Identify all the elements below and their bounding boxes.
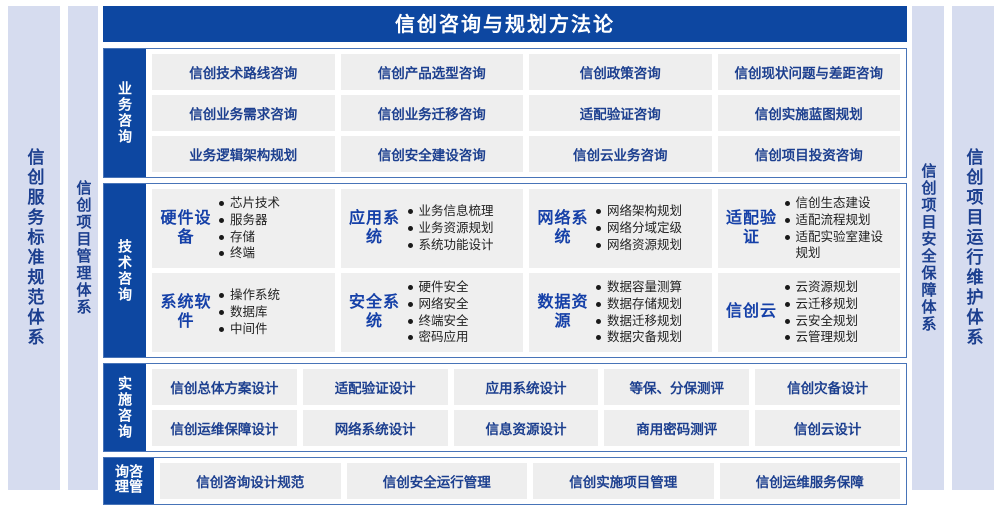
chip-item[interactable]: 信创总体方案设计: [152, 369, 297, 405]
tile-row: 硬件设备 芯片技术 服务器 存储 终端 应用系统 业务信息梳理 业务资源规划: [152, 189, 900, 268]
tile-list-item: 适配实验室建设规划: [784, 229, 895, 263]
tile-list: 云资源规划 云迁移规划 云安全规划 云管理规划: [780, 279, 895, 346]
tile-list-item: 网络分域定级: [595, 220, 706, 237]
chip-item[interactable]: 应用系统设计: [454, 369, 599, 405]
chip-item[interactable]: 网络系统设计: [303, 410, 448, 446]
chip-item[interactable]: 信创云设计: [755, 410, 900, 446]
chip-item[interactable]: 适配验证咨询: [529, 95, 712, 131]
tile-title: 系统软件: [158, 294, 214, 332]
tile-list-item: 业务信息梳理: [407, 203, 518, 220]
chip-item[interactable]: 商用密码测评: [604, 410, 749, 446]
band-label-technical-consulting: 技术咨询: [104, 184, 146, 357]
tile-system-software[interactable]: 系统软件 操作系统 数据库 中间件: [152, 273, 335, 352]
tile-title: 安全系统: [347, 294, 403, 332]
tile-list-item: 数据迁移规划: [595, 313, 706, 330]
chip-item[interactable]: 信创实施蓝图规划: [718, 95, 901, 131]
pillar-project-operation-system: 信创项目运行维护体系: [952, 6, 994, 490]
band-label-text: 技术咨询: [118, 239, 132, 303]
tile-list-item: 中间件: [218, 321, 329, 338]
chip-item[interactable]: 信创灾备设计: [755, 369, 900, 405]
tile-list-item: 信创生态建设: [784, 195, 895, 212]
chip-item[interactable]: 信创安全运行管理: [347, 463, 528, 499]
chip-item[interactable]: 信创技术路线咨询: [152, 54, 335, 90]
pillar-service-standard-system: 信创服务标准规范体系: [8, 6, 60, 490]
chip-item[interactable]: 信创现状问题与差距咨询: [718, 54, 901, 90]
tile-title: 信创云: [724, 303, 780, 322]
tile-list-item: 网络架构规划: [595, 203, 706, 220]
tile-list-item: 业务资源规划: [407, 220, 518, 237]
band-body-consulting-management: 信创咨询设计规范 信创安全运行管理 信创实施项目管理 信创运维服务保障: [154, 458, 906, 504]
band-technical-consulting: 技术咨询 硬件设备 芯片技术 服务器 存储 终端 应用系统: [103, 183, 907, 358]
center-column: 信创咨询与规划方法论 业务咨询 信创技术路线咨询 信创产品选型咨询 信创政策咨询…: [103, 6, 907, 490]
chip-item[interactable]: 等保、分保测评: [604, 369, 749, 405]
tile-network-system[interactable]: 网络系统 网络架构规划 网络分域定级 网络资源规划: [529, 189, 712, 268]
tile-list: 操作系统 数据库 中间件: [214, 287, 329, 337]
pillar-label: 信创项目管理体系: [76, 180, 91, 316]
tile-data-resource[interactable]: 数据资源 数据容量测算 数据存储规划 数据迁移规划 数据灾备规划: [529, 273, 712, 352]
tile-list-item: 网络资源规划: [595, 237, 706, 254]
band-label-business-consulting: 业务咨询: [104, 49, 146, 177]
chip-item[interactable]: 信创政策咨询: [529, 54, 712, 90]
chip-item[interactable]: 信创实施项目管理: [533, 463, 714, 499]
chip-item[interactable]: 信创咨询设计规范: [160, 463, 341, 499]
tile-list-item: 硬件安全: [407, 279, 518, 296]
tile-list: 芯片技术 服务器 存储 终端: [214, 195, 329, 262]
band-label-text: 实施咨询: [118, 376, 132, 440]
tile-title: 硬件设备: [158, 210, 214, 248]
band-business-consulting: 业务咨询 信创技术路线咨询 信创产品选型咨询 信创政策咨询 信创现状问题与差距咨…: [103, 48, 907, 178]
tile-xinchuang-cloud[interactable]: 信创云 云资源规划 云迁移规划 云安全规划 云管理规划: [718, 273, 901, 352]
diagram-root: 信创服务标准规范体系 信创项目管理体系 信创咨询与规划方法论 业务咨询 信创技术…: [0, 0, 1000, 496]
tile-title: 数据资源: [535, 294, 591, 332]
chip-row: 信创运维保障设计 网络系统设计 信息资源设计 商用密码测评 信创云设计: [152, 410, 900, 446]
pillar-project-management-system: 信创项目管理体系: [68, 6, 98, 490]
tile-list-item: 数据存储规划: [595, 296, 706, 313]
chip-item[interactable]: 信创产品选型咨询: [341, 54, 524, 90]
tile-list-item: 数据容量测算: [595, 279, 706, 296]
chip-row: 信创业务需求咨询 信创业务迁移咨询 适配验证咨询 信创实施蓝图规划: [152, 95, 900, 131]
tile-list-item: 服务器: [218, 212, 329, 229]
tile-title: 应用系统: [347, 210, 403, 248]
tile-list-item: 存储: [218, 229, 329, 246]
pillar-project-security-system: 信创项目安全保障体系: [912, 6, 944, 490]
tile-list-item: 网络安全: [407, 296, 518, 313]
chip-item[interactable]: 信创运维保障设计: [152, 410, 297, 446]
band-consulting-management: 咨管询理 信创咨询设计规范 信创安全运行管理 信创实施项目管理 信创运维服务保障: [103, 457, 907, 505]
band-label-consulting-management: 咨管询理: [104, 458, 154, 504]
pillar-label: 信创项目安全保障体系: [921, 163, 936, 333]
tile-list-item: 数据库: [218, 304, 329, 321]
band-label-text: 业务咨询: [118, 81, 132, 145]
tile-list: 信创生态建设 适配流程规划 适配实验室建设规划: [780, 195, 895, 262]
band-body-technical-consulting: 硬件设备 芯片技术 服务器 存储 终端 应用系统 业务信息梳理 业务资源规划: [146, 184, 906, 357]
chip-row: 信创技术路线咨询 信创产品选型咨询 信创政策咨询 信创现状问题与差距咨询: [152, 54, 900, 90]
chip-item[interactable]: 信创运维服务保障: [720, 463, 901, 499]
tile-list: 数据容量测算 数据存储规划 数据迁移规划 数据灾备规划: [591, 279, 706, 346]
tile-security-system[interactable]: 安全系统 硬件安全 网络安全 终端安全 密码应用: [341, 273, 524, 352]
tile-hardware-devices[interactable]: 硬件设备 芯片技术 服务器 存储 终端: [152, 189, 335, 268]
chip-item[interactable]: 信息资源设计: [454, 410, 599, 446]
chip-row: 信创总体方案设计 适配验证设计 应用系统设计 等保、分保测评 信创灾备设计: [152, 369, 900, 405]
band-label-implementation-consulting: 实施咨询: [104, 364, 146, 451]
tile-list-item: 云资源规划: [784, 279, 895, 296]
tile-title: 适配验证: [724, 210, 780, 248]
page-title: 信创咨询与规划方法论: [103, 6, 907, 42]
pillar-label: 信创服务标准规范体系: [26, 148, 43, 348]
tile-adaptation-verification[interactable]: 适配验证 信创生态建设 适配流程规划 适配实验室建设规划: [718, 189, 901, 268]
tile-list: 硬件安全 网络安全 终端安全 密码应用: [403, 279, 518, 346]
chip-item[interactable]: 信创安全建设咨询: [341, 136, 524, 172]
tile-application-system[interactable]: 应用系统 业务信息梳理 业务资源规划 系统功能设计: [341, 189, 524, 268]
chip-row: 业务逻辑架构规划 信创安全建设咨询 信创云业务咨询 信创项目投资咨询: [152, 136, 900, 172]
tile-list-item: 终端: [218, 245, 329, 262]
tile-title: 网络系统: [535, 210, 591, 248]
band-label-text: 咨管询理: [115, 464, 143, 498]
tile-list-item: 终端安全: [407, 313, 518, 330]
chip-item[interactable]: 适配验证设计: [303, 369, 448, 405]
chip-item[interactable]: 信创云业务咨询: [529, 136, 712, 172]
tile-list-item: 适配流程规划: [784, 212, 895, 229]
chip-item[interactable]: 业务逻辑架构规划: [152, 136, 335, 172]
tile-row: 系统软件 操作系统 数据库 中间件 安全系统 硬件安全 网络安全 终端安全: [152, 273, 900, 352]
tile-list: 网络架构规划 网络分域定级 网络资源规划: [591, 203, 706, 253]
tile-list-item: 数据灾备规划: [595, 329, 706, 346]
tile-list-item: 云管理规划: [784, 329, 895, 346]
pillar-label: 信创项目运行维护体系: [965, 148, 982, 348]
chip-row: 信创咨询设计规范 信创安全运行管理 信创实施项目管理 信创运维服务保障: [160, 463, 900, 499]
tile-list-item: 系统功能设计: [407, 237, 518, 254]
chip-item[interactable]: 信创业务迁移咨询: [341, 95, 524, 131]
tile-list-item: 密码应用: [407, 329, 518, 346]
chip-item[interactable]: 信创项目投资咨询: [718, 136, 901, 172]
tile-list: 业务信息梳理 业务资源规划 系统功能设计: [403, 203, 518, 253]
band-implementation-consulting: 实施咨询 信创总体方案设计 适配验证设计 应用系统设计 等保、分保测评 信创灾备…: [103, 363, 907, 452]
tile-list-item: 云迁移规划: [784, 296, 895, 313]
band-body-business-consulting: 信创技术路线咨询 信创产品选型咨询 信创政策咨询 信创现状问题与差距咨询 信创业…: [146, 49, 906, 177]
tile-list-item: 芯片技术: [218, 195, 329, 212]
band-body-implementation-consulting: 信创总体方案设计 适配验证设计 应用系统设计 等保、分保测评 信创灾备设计 信创…: [146, 364, 906, 451]
tile-list-item: 云安全规划: [784, 313, 895, 330]
tile-list-item: 操作系统: [218, 287, 329, 304]
chip-item[interactable]: 信创业务需求咨询: [152, 95, 335, 131]
